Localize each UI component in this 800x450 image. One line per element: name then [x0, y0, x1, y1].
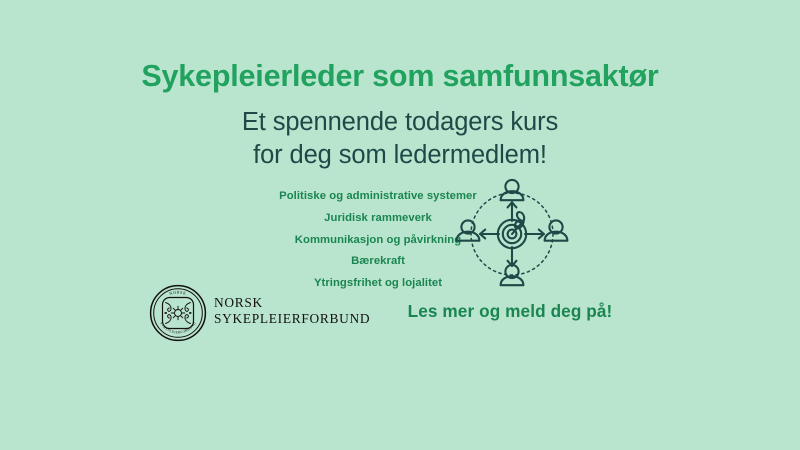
svg-text:SYKEPLEIERFORBUND: SYKEPLEIERFORBUND [159, 321, 197, 334]
cta-text[interactable]: Les mer og meld deg på! [390, 301, 630, 322]
poster-canvas: Sykepleierleder som samfunnsaktør Et spe… [0, 0, 800, 450]
norsk-sykepleierforbund-seal-icon: NORSK SYKEPLEIERFORBUND [148, 283, 208, 343]
subtitle-line-2: for deg som ledermedlem! [0, 139, 800, 172]
logo-wordmark-line-2: SYKEPLEIERFORBUND [214, 311, 370, 327]
person-icon-top [501, 180, 524, 200]
svg-text:NORSK: NORSK [169, 289, 188, 296]
person-icon-right [545, 220, 568, 240]
subtitle: Et spennende todagers kurs for deg som l… [0, 106, 800, 173]
page-title: Sykepleierleder som samfunnsaktør [0, 59, 800, 94]
subtitle-line-1: Et spennende todagers kurs [0, 106, 800, 139]
person-icon-left [457, 220, 480, 240]
logo-wordmark-line-1: NORSK [214, 295, 370, 311]
logo-wordmark: NORSK SYKEPLEIERFORBUND [214, 295, 370, 326]
leaf-sprout-icon [512, 212, 524, 234]
network-target-illustration [452, 176, 572, 294]
organization-logo: NORSK SYKEPLEIERFORBUND NORSK SYKEPLEIER… [148, 283, 358, 345]
